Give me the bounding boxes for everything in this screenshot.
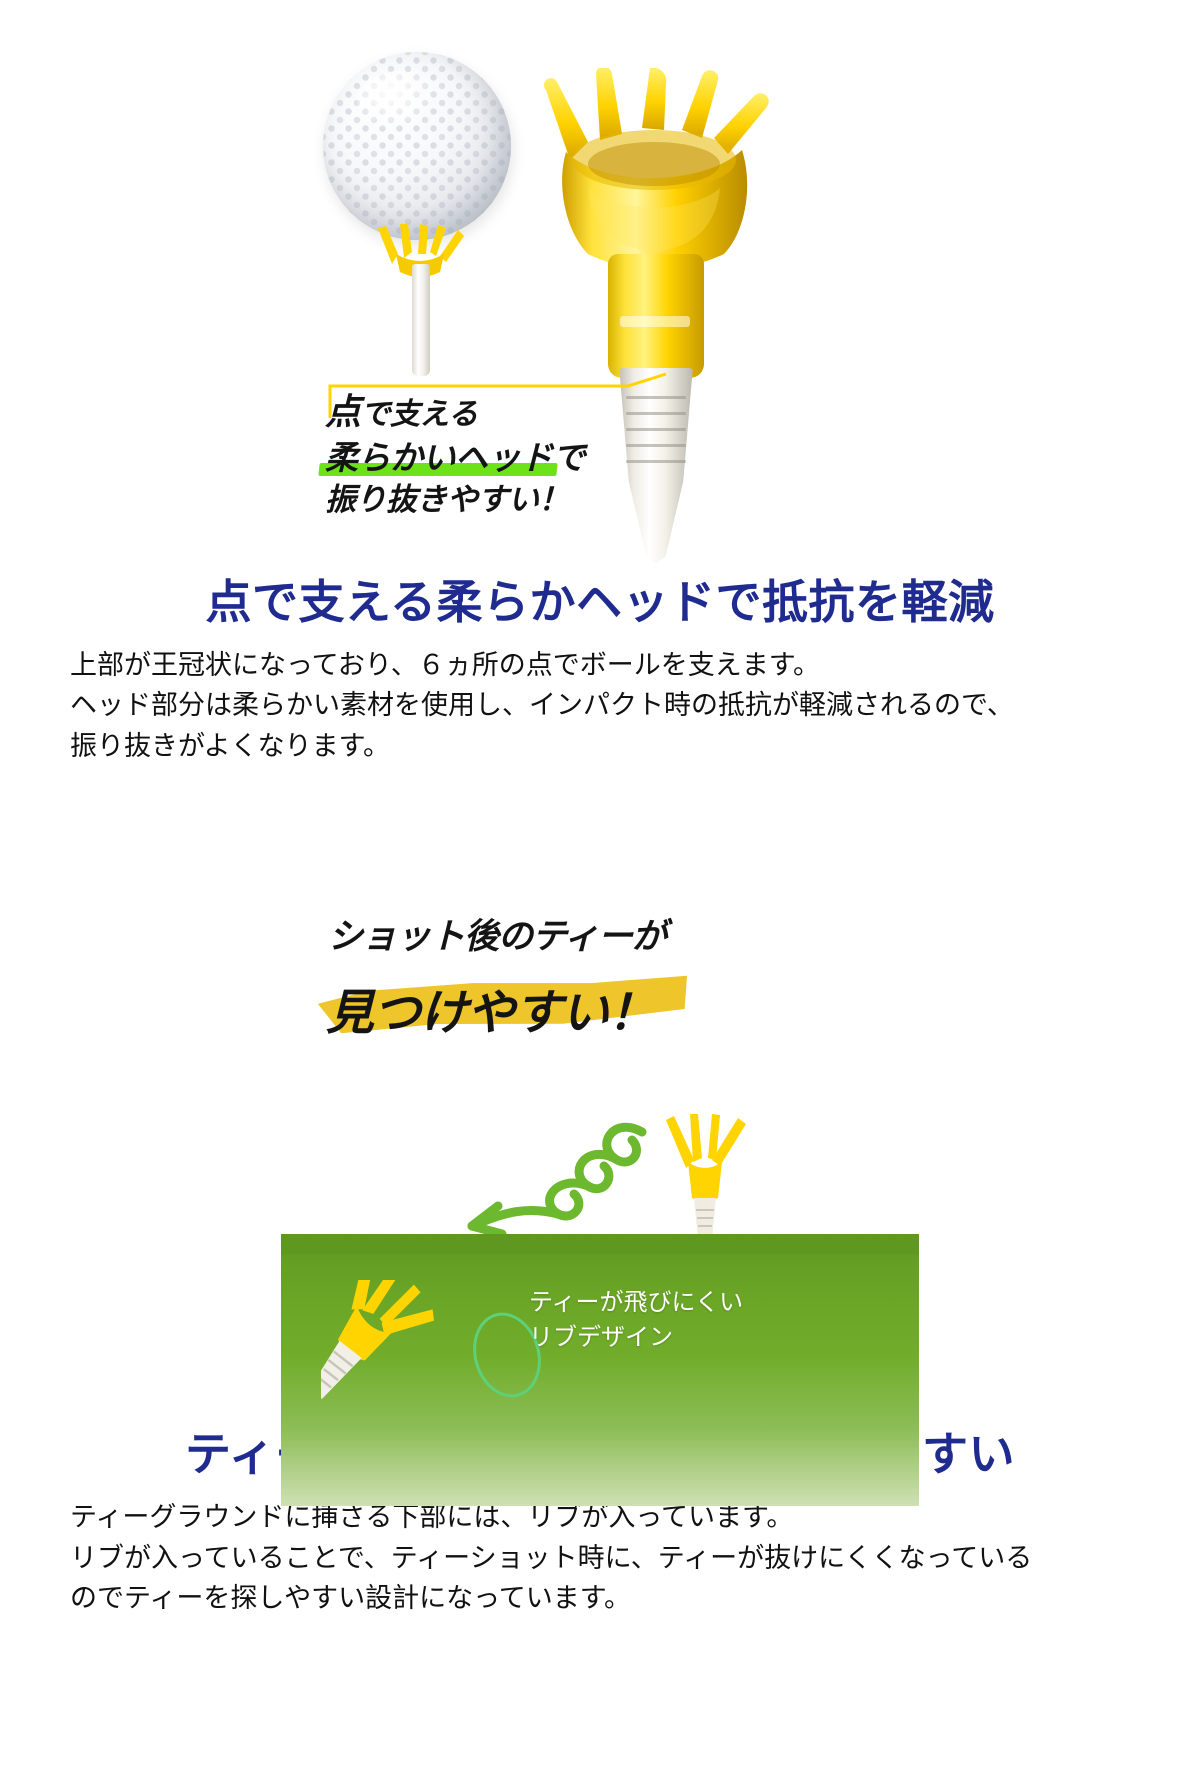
section2-body-line-2: リブが入っていることで、ティーショット時に、ティーが抜けにくくなっている <box>70 1538 1160 1579</box>
grass-label-line-1: ティーが飛びにくい <box>529 1286 743 1321</box>
small-tee-shaft <box>412 264 430 376</box>
section1-heading: 点で支える柔らかヘッドで抵抗を軽減 <box>0 576 1200 629</box>
section1-body-line-1: 上部が王冠状になっており、６ヵ所の点でボールを支えます。 <box>70 645 1160 686</box>
section2-body-line-3: のでティーを探しやすい設計になっています。 <box>70 1578 1160 1619</box>
grass-blades <box>281 1234 919 1254</box>
tee-crown-head-icon <box>530 68 780 278</box>
callout-line-1: 点で支える <box>325 392 655 432</box>
section2-body: ティーグラウンドに挿さる下部には、リブが入っています。 リブが入っていることで、… <box>0 1497 1200 1619</box>
section2-callout-line-2: 見つけやすい！ <box>326 973 655 1043</box>
standing-tee-icon <box>660 1114 750 1244</box>
callout-line-2-tail: で <box>553 439 586 476</box>
section1-product-photo: 点で支える 柔らかいヘッドで 振り抜きやすい！ <box>0 0 1200 560</box>
callout-highlight-text: 柔らかいヘッド <box>325 440 553 477</box>
section1-body-line-2: ヘッド部分は柔らかい素材を使用し、インパクト時の抵抗が軽減されるので、 <box>70 685 1160 726</box>
section2-callout-line-2-wrap: 見つけやすい！ <box>318 963 798 1027</box>
golf-ball-highlight <box>357 71 440 131</box>
grass-scene: ティーが飛びにくい リブデザイン <box>281 1234 919 1506</box>
section2-callout-line-1: ショット後のティーが <box>318 908 798 959</box>
small-tee-image <box>374 224 466 374</box>
product-feature-page: 点で支える 柔らかいヘッドで 振り抜きやすい！ 点で支える柔らかヘッドで抵抗を軽… <box>0 0 1200 1765</box>
section1-callout: 点で支える 柔らかいヘッドで 振り抜きやすい！ <box>325 392 655 518</box>
callout-line-2: 柔らかいヘッドで <box>325 440 655 477</box>
section2-callout: ショット後のティーが 見つけやすい！ <box>318 908 798 1027</box>
golf-ball-image <box>323 52 511 240</box>
grass-label: ティーが飛びにくい リブデザイン <box>529 1286 743 1356</box>
callout-line-3: 振り抜きやすい！ <box>325 483 655 518</box>
callout-line-1-lead: 点 <box>325 391 361 432</box>
spiral-arrow-icon <box>400 1118 650 1238</box>
grass-label-line-2: リブデザイン <box>529 1321 743 1356</box>
section-spacer <box>0 766 1200 886</box>
section1-body-line-3: 振り抜きがよくなります。 <box>70 726 1160 767</box>
section2-illustration: ショット後のティーが 見つけやすい！ <box>0 886 1200 1406</box>
section1-body: 上部が王冠状になっており、６ヵ所の点でボールを支えます。 ヘッド部分は柔らかい素… <box>0 645 1200 767</box>
tee-collar <box>608 254 704 378</box>
callout-line-1-rest: で支える <box>361 398 478 431</box>
